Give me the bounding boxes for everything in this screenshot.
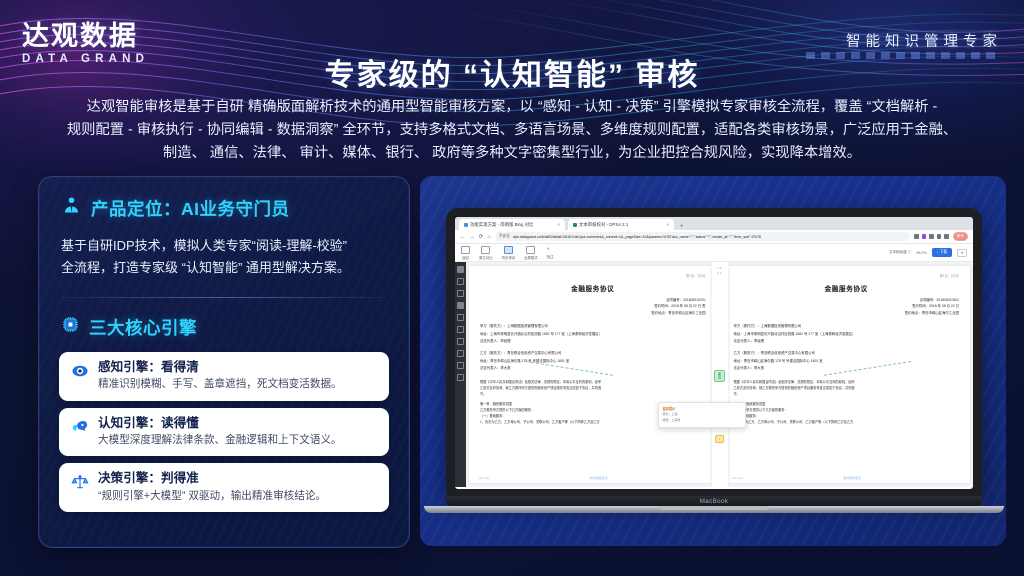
globe-icon[interactable] bbox=[944, 234, 949, 239]
toolbar-label: 返回 bbox=[462, 255, 469, 260]
tab-label: 文本审核校对 - DPSA 2.1 bbox=[579, 222, 628, 228]
tab-label: 功能实现方案 - 简明版 Bing 对比 bbox=[470, 222, 533, 228]
positioning-line-2: 全流程，打造专家级 “认知智能” 通用型解决方案。 bbox=[61, 257, 387, 279]
back-tool-icon bbox=[461, 246, 470, 254]
document-compare-area: 第1页，共4页 金融服务协议 合同编号：20180821020J 签约时间：20… bbox=[466, 262, 973, 487]
intro-line-3: 制造、 通信、法律、 审计、媒体、银行、 政府等多种文字密集型行业，为企业把控合… bbox=[26, 142, 998, 165]
similarity-value: 99.2% bbox=[916, 251, 926, 255]
engine-desc: 精准识别模糊、手写、盖章遮挡，死文档变活数据。 bbox=[98, 377, 378, 392]
omnibox[interactable]: 不安全 dps.datagrand.cn/#/dif/2/detail/1/61… bbox=[495, 232, 911, 241]
rail-icon-doc-5[interactable] bbox=[457, 338, 464, 345]
security-label: 不安全 bbox=[499, 234, 510, 239]
toolbar-item-annotate[interactable]: ✎ 批注 bbox=[547, 247, 554, 259]
diff-gutter: 1 0 0 0 差异 ! bbox=[710, 262, 729, 487]
rail-icon-menu[interactable] bbox=[457, 266, 464, 273]
page-footer-right: ◁ 1 / 4 ▷ 新增审核意见 bbox=[723, 476, 971, 480]
chip-icon bbox=[61, 315, 80, 339]
party-b: 乙方（服务方）：青岛联合信用资产交易中心有限公司 bbox=[480, 350, 706, 358]
contract-body: 根据《中华人民共和国合同法》及相关法律、法规的规定，本着公平互利的原则，经甲 乙… bbox=[734, 379, 960, 426]
contract-fields: 合同编号：20180821020J 签约时间：2018 年 08 月 22 日 … bbox=[734, 297, 960, 316]
brand-tagline: 智能知识管理专家 bbox=[846, 30, 1002, 51]
party-a-address: 地址：上海市崇明县长兴镇北沿村民西路 1582 号 177 室（上海泰和经济发展… bbox=[734, 331, 960, 339]
toolbar-item-back[interactable]: 返回 bbox=[461, 246, 470, 260]
page-meta: 第1页，共4页 bbox=[480, 273, 706, 278]
diff-counts: 1 0 0 0 bbox=[714, 266, 726, 276]
tooltip-line-1: 原文：上海 bbox=[663, 412, 741, 417]
browser-url-bar: ← → ⟳ ⌂ 不安全 dps.datagrand.cn/#/dif/2/det… bbox=[455, 230, 973, 244]
engine-title: 感知引擎：看得清 bbox=[98, 359, 378, 375]
pager[interactable]: ◁ 1 / 4 ▷ bbox=[732, 476, 744, 480]
share-icon[interactable] bbox=[929, 234, 934, 239]
brain-icon bbox=[70, 417, 90, 437]
page-title: 专家级的 “认知智能” 审核 bbox=[0, 50, 1024, 94]
laptop-screen: 功能实现方案 - 简明版 Bing 对比 × 文本审核校对 - DPSA 2.1… bbox=[455, 217, 973, 489]
party-a: 甲方（委托方）：上海数据投资管理有限公司 bbox=[734, 323, 960, 331]
engines-section-header: 三大核心引擎 bbox=[39, 298, 409, 340]
engine-desc: 大模型深度理解法律条款、金融逻辑和上下文语义。 bbox=[98, 433, 378, 448]
scales-icon bbox=[70, 472, 90, 492]
positioning-section: 产品定位：AI业务守门员 基于自研IDP技术，模拟人类专家“阅读-理解-校验” … bbox=[39, 177, 409, 280]
page-footer-left: ◁ 1 / 4 ▷ 新增审核意见 bbox=[469, 476, 717, 480]
left-info-card: 产品定位：AI业务守门员 基于自研IDP技术，模拟人类专家“阅读-理解-校验” … bbox=[38, 176, 410, 548]
add-comment-link[interactable]: 新增审核意见 bbox=[590, 476, 608, 480]
tab-favicon bbox=[464, 223, 468, 227]
eye-icon bbox=[70, 361, 90, 381]
tab-close-icon[interactable]: × bbox=[557, 222, 560, 227]
diff-tooltip: 差异提示 原文：上海 修改：上海市 bbox=[658, 402, 746, 428]
toolbar-item-sync-scroll[interactable]: 同步滚动 bbox=[502, 246, 516, 260]
sync-scroll-tool-icon bbox=[504, 246, 513, 254]
contract-parties: 甲方（委托方）：上海数据投资管理有限公司 地址：上海市崇明县长兴镇北沿村民西路 … bbox=[734, 323, 960, 373]
url-text: dps.datagrand.cn/#/dif/2/detail/1/616?cl… bbox=[513, 235, 761, 239]
toolbar-item-fullscreen[interactable]: 全屏模式 bbox=[524, 246, 538, 260]
browser-tab-2[interactable]: 文本审核校对 - DPSA 2.1 × bbox=[568, 219, 674, 230]
diff-count-2: 0 0 bbox=[714, 271, 726, 276]
laptop-base: MacBook bbox=[446, 496, 982, 506]
contract-parties: 甲方（委托方）：上海数据投资管理有限公司 地址：上海市崇明县长兴镇北沿村民西路 … bbox=[480, 323, 706, 373]
rail-icon-doc-3[interactable] bbox=[457, 314, 464, 321]
tab-close-icon[interactable]: × bbox=[666, 222, 669, 227]
slide-root: 达观数据 DATA GRAND 智能知识管理专家 专家级的 “认知智能” 审核 … bbox=[0, 0, 1024, 576]
app-toolbar: 返回 原文对比 同步滚动 全屏模式 bbox=[455, 244, 973, 262]
contract-title: 金融服务协议 bbox=[480, 283, 706, 293]
browser-tab-active[interactable]: 功能实现方案 - 简明版 Bing 对比 × bbox=[459, 219, 565, 230]
intro-line-1: 达观智能审核是基于自研 精确版面解析技术的通用型智能审核方案，以 “感知 - 认… bbox=[26, 96, 998, 119]
puzzle-icon[interactable] bbox=[937, 234, 942, 239]
engine-card-perception[interactable]: 感知引擎：看得清 精准识别模糊、手写、盖章遮挡，死文档变活数据。 bbox=[59, 352, 389, 401]
extension-icon[interactable] bbox=[922, 234, 927, 239]
toolbar-label: 同步滚动 bbox=[502, 255, 516, 260]
toolbar-right-group: 文本相似度 ⓘ 99.2% ↓ 下载 ▾ bbox=[889, 248, 967, 257]
profile-avatar[interactable]: 账号 bbox=[953, 232, 968, 241]
field-sign-place: 签约地点：青岛市崂山区海尔工业园 bbox=[480, 310, 706, 316]
engine-card-decision[interactable]: 决策引擎：判得准 “规则引擎+大模型” 双驱动，输出精准审核结论。 bbox=[59, 463, 389, 512]
positioning-title: 产品定位：AI业务守门员 bbox=[91, 196, 290, 221]
field-sign-place: 签约地点：青岛市崂山区海尔工业园 bbox=[734, 310, 960, 316]
engine-list: 感知引擎：看得清 精准识别模糊、手写、盖章遮挡，死文档变活数据。 认知引擎：读得… bbox=[39, 352, 409, 512]
contract-title: 金融服务协议 bbox=[734, 283, 960, 293]
rail-icon-doc-4[interactable] bbox=[457, 326, 464, 333]
intro-line-2: 规则配置 - 审核执行 - 协同编辑 - 数据洞察” 全环节，支持多格式文档、多… bbox=[26, 119, 998, 142]
tooltip-title: 差异提示 bbox=[663, 406, 741, 411]
reload-icon[interactable]: ⟳ bbox=[479, 234, 484, 240]
similarity-label: 文本相似度 ⓘ bbox=[889, 250, 912, 255]
positioning-line-1: 基于自研IDP技术，模拟人类专家“阅读-理解-校验” bbox=[61, 235, 387, 257]
engine-desc: “规则引擎+大模型” 双驱动，输出精准审核结论。 bbox=[98, 489, 378, 504]
party-b-address: 地址：青岛市崂山区海尔路 178 号 号楼法国际中心 1601 室 bbox=[734, 358, 960, 366]
party-b: 乙方（服务方）：青岛联合信用资产交易中心有限公司 bbox=[734, 350, 960, 358]
logo-chinese: 达观数据 bbox=[22, 22, 149, 50]
forward-icon[interactable]: → bbox=[469, 234, 474, 240]
document-workspace: 第1页，共4页 金融服务协议 合同编号：20180821020J 签约时间：20… bbox=[455, 262, 973, 487]
positioning-body: 基于自研IDP技术，模拟人类专家“阅读-理解-校验” 全流程，打造专家级 “认知… bbox=[61, 235, 387, 280]
tab-favicon bbox=[573, 223, 577, 227]
fullscreen-tool-icon bbox=[526, 246, 535, 254]
party-a-rep: 法定代表人：李经理 bbox=[480, 338, 706, 346]
body-line-7: 1、负责为乙方、乙方母公司、子公司、关联公司、乙方客户等（以下简称乙方及乙方 bbox=[734, 419, 960, 425]
party-a-rep: 法定代表人：李经理 bbox=[734, 338, 960, 346]
toolbar-item-compare[interactable]: 原文对比 bbox=[479, 246, 493, 260]
browser-tab-bar: 功能实现方案 - 简明版 Bing 对比 × 文本审核校对 - DPSA 2.1… bbox=[455, 217, 973, 230]
engine-title: 认知引擎：读得懂 bbox=[98, 415, 378, 431]
rail-icon-doc-7[interactable] bbox=[457, 362, 464, 369]
party-b-address: 地址：青岛市崂山区海尔路 178 号 号楼法国际中心 1601 室 bbox=[480, 358, 706, 366]
pager[interactable]: ◁ 1 / 4 ▷ bbox=[478, 476, 490, 480]
diff-chip-green[interactable]: 差异 bbox=[714, 370, 725, 382]
toolbar-label: 原文对比 bbox=[479, 255, 493, 260]
macbook-label: MacBook bbox=[700, 498, 729, 505]
engine-title: 决策引擎：判得准 bbox=[98, 470, 378, 486]
toolbar-label: 全屏模式 bbox=[524, 255, 538, 260]
party-a-address: 地址：上海市崇明县长兴镇北沿村民西路 1582 号 177 室（上海泰和经济发展… bbox=[480, 331, 706, 339]
compare-tool-icon bbox=[481, 246, 490, 254]
rail-icon-doc-6[interactable] bbox=[457, 350, 464, 357]
download-caret-icon[interactable]: ▾ bbox=[957, 249, 967, 257]
rail-icon-doc-8[interactable] bbox=[457, 374, 464, 381]
right-showcase-panel: 功能实现方案 - 简明版 Bing 对比 × 文本审核校对 - DPSA 2.1… bbox=[420, 176, 1006, 546]
left-rail bbox=[455, 262, 466, 487]
tooltip-line-2: 修改：上海市 bbox=[663, 418, 741, 423]
party-a: 甲方（委托方）：上海数据投资管理有限公司 bbox=[480, 323, 706, 331]
page-meta: 第1页，共4页 bbox=[734, 273, 960, 278]
extension-icons bbox=[914, 234, 949, 239]
back-icon[interactable]: ← bbox=[460, 234, 465, 240]
document-page-right[interactable]: 第1页，共4页 金融服务协议 合同编号：20180821020J 签约时间：20… bbox=[723, 266, 971, 483]
macbook-mockup: 功能实现方案 - 简明版 Bing 对比 × 文本审核校对 - DPSA 2.1… bbox=[446, 208, 982, 513]
contract-fields: 合同编号：20180821020J 签约时间：2018 年 08 月 22 日 … bbox=[480, 297, 706, 316]
toolbar-label: 批注 bbox=[547, 254, 554, 259]
add-comment-link[interactable]: 新增审核意见 bbox=[843, 476, 861, 480]
laptop-notch bbox=[659, 506, 769, 510]
download-button[interactable]: ↓ 下载 bbox=[932, 248, 953, 257]
document-page-left[interactable]: 第1页，共4页 金融服务协议 合同编号：20180821020J 签约时间：20… bbox=[469, 266, 717, 483]
home-icon[interactable]: ⌂ bbox=[487, 234, 490, 240]
rail-icon-grid[interactable] bbox=[457, 302, 464, 309]
diff-chip-warning[interactable]: ! bbox=[715, 435, 724, 443]
rail-icon-doc-1[interactable] bbox=[457, 278, 464, 285]
rail-icon-doc-2[interactable] bbox=[457, 290, 464, 297]
star-icon[interactable] bbox=[914, 234, 919, 239]
engine-card-cognition[interactable]: 认知引擎：读得懂 大模型深度理解法律条款、金融逻辑和上下文语义。 bbox=[59, 408, 389, 457]
user-badge-icon bbox=[61, 195, 82, 221]
positioning-header: 产品定位：AI业务守门员 bbox=[61, 195, 387, 221]
new-tab-button[interactable]: + bbox=[677, 224, 687, 230]
intro-paragraph: 达观智能审核是基于自研 精确版面解析技术的通用型智能审核方案，以 “感知 - 认… bbox=[26, 96, 998, 165]
laptop-lid: 功能实现方案 - 简明版 Bing 对比 × 文本审核校对 - DPSA 2.1… bbox=[446, 208, 982, 496]
annotate-tool-icon: ✎ bbox=[547, 247, 554, 253]
laptop-foot bbox=[424, 506, 1004, 513]
engines-section-title: 三大核心引擎 bbox=[89, 315, 197, 340]
